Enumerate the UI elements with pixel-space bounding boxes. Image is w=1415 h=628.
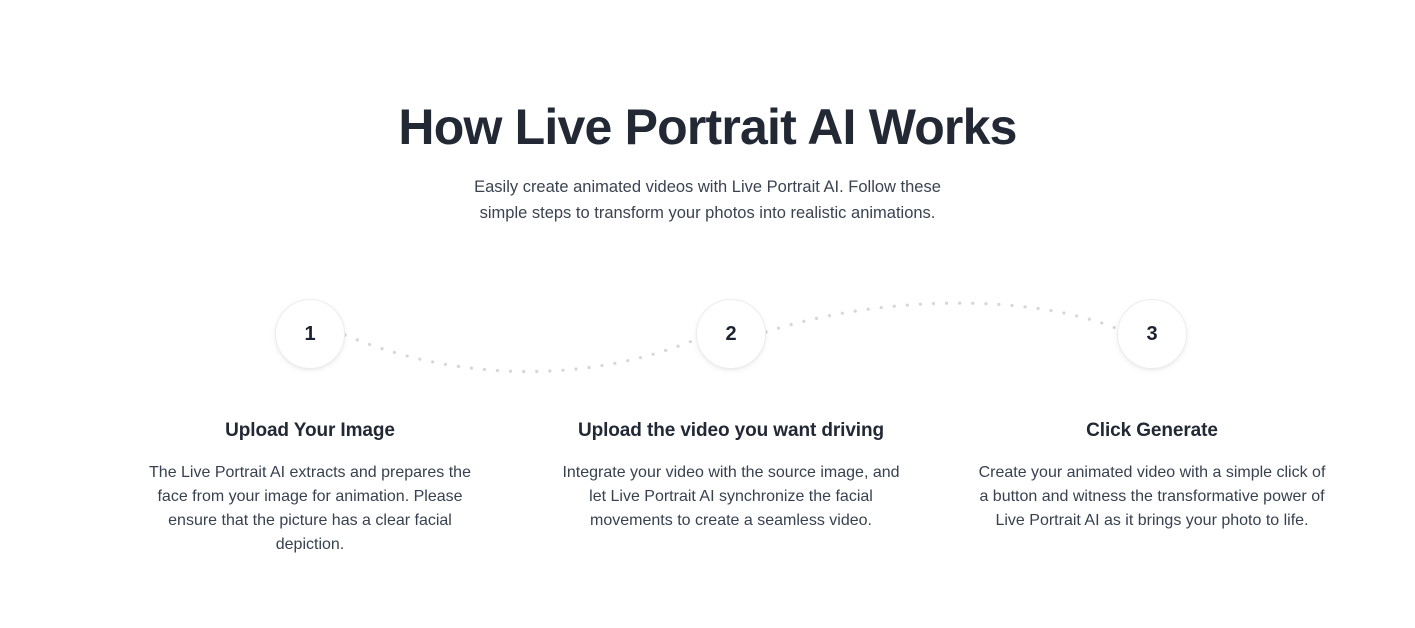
step-body-3: Create your animated video with a simple… (976, 461, 1328, 533)
steps-container: 1 Upload Your Image The Live Portrait AI… (0, 299, 1415, 559)
step-item-3: 3 Click Generate Create your animated vi… (942, 299, 1362, 533)
page-subtitle: Easily create animated videos with Live … (458, 175, 958, 226)
step-badge-1: 1 (275, 299, 345, 369)
step-item-1: 1 Upload Your Image The Live Portrait AI… (100, 299, 520, 557)
step-heading-1: Upload Your Image (100, 418, 520, 444)
page-title: How Live Portrait AI Works (0, 96, 1415, 158)
step-heading-2: Upload the video you want driving (521, 418, 941, 444)
step-body-2: Integrate your video with the source ima… (555, 461, 907, 533)
step-number-2: 2 (725, 324, 736, 344)
step-badge-2: 2 (696, 299, 766, 369)
section-header: How Live Portrait AI Works Easily create… (0, 96, 1415, 226)
how-it-works-section: How Live Portrait AI Works Easily create… (0, 0, 1415, 628)
step-number-3: 3 (1146, 324, 1157, 344)
step-number-1: 1 (304, 324, 315, 344)
step-item-2: 2 Upload the video you want driving Inte… (521, 299, 941, 533)
step-heading-3: Click Generate (942, 418, 1362, 444)
step-body-1: The Live Portrait AI extracts and prepar… (134, 461, 486, 557)
step-badge-3: 3 (1117, 299, 1187, 369)
